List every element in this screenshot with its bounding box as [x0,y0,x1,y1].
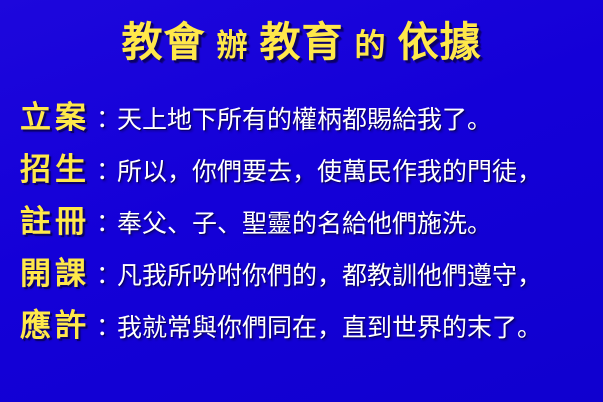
row-label-ying-xu: 應許 [20,306,98,346]
title-segment-2: 辦 [217,28,249,64]
list-item: 開課 ： 凡我所吩咐你們的，都教訓他們遵守， [0,250,603,302]
row-text-kai-ke: 凡我所吩咐你們的，都教訓他們遵守， [117,257,542,295]
presentation-slide: 教會辦教育的依據 立案 ： 天上地下所有的權柄都賜給我了。 招生 ： 所以，你們… [0,0,603,402]
list-item: 立案 ： 天上地下所有的權柄都賜給我了。 [0,94,603,146]
list-item: 註冊 ： 奉父、子、聖靈的名給他們施洗。 [0,198,603,250]
slide-body-list: 立案 ： 天上地下所有的權柄都賜給我了。 招生 ： 所以，你們要去，使萬民作我的… [0,94,603,354]
row-text-zhao-sheng: 所以，你們要去，使萬民作我的門徒， [117,153,542,191]
row-text-ying-xu: 我就常與你們同在，直到世界的末了。 [117,309,542,347]
title-segment-3: 教育 [260,18,344,66]
row-label-zhao-sheng: 招生 [20,150,98,190]
title-segment-5: 依據 [398,18,482,66]
row-text-li-an: 天上地下所有的權柄都賜給我了。 [117,101,492,139]
row-text-zhu-ce: 奉父、子、聖靈的名給他們施洗。 [117,205,492,243]
slide-title: 教會辦教育的依據 [0,22,603,63]
title-segment-4: 的 [355,28,387,64]
list-item: 應許 ： 我就常與你們同在，直到世界的末了。 [0,302,603,354]
row-label-li-an: 立案 [20,98,98,138]
list-item: 招生 ： 所以，你們要去，使萬民作我的門徒， [0,146,603,198]
row-label-zhu-ce: 註冊 [20,202,98,242]
row-label-kai-ke: 開課 [20,254,98,294]
title-segment-1: 教會 [122,18,206,66]
